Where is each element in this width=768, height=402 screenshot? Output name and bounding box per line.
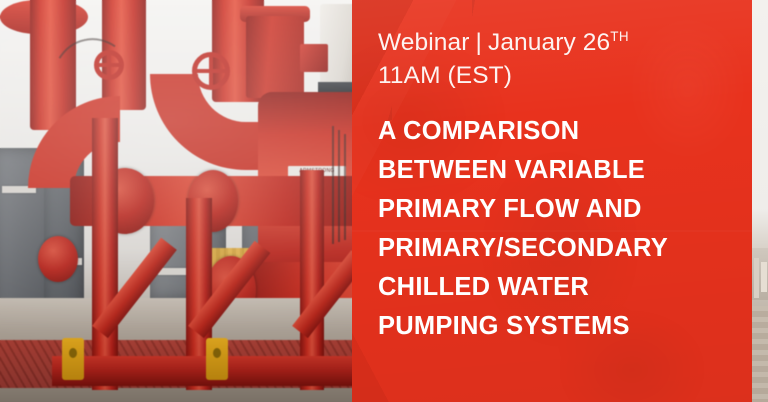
headline-line-1: A COMPARISON [378, 112, 732, 151]
strip-shape [754, 258, 759, 298]
event-type-label: Webinar [378, 29, 470, 56]
wire [338, 130, 340, 242]
lifting-lug [62, 338, 84, 380]
lifting-lug [206, 338, 228, 380]
valve-actuator [246, 16, 304, 98]
headline: A COMPARISON BETWEEN VARIABLE PRIMARY FL… [378, 112, 732, 346]
strip-shape [761, 262, 767, 292]
headline-line-2: BETWEEN VARIABLE [378, 151, 732, 190]
right-photo-strip [752, 0, 768, 402]
overlay-content: Webinar|January 26TH 11AM (EST) A COMPAR… [378, 20, 732, 346]
headline-line-3: PRIMARY FLOW AND [378, 190, 732, 229]
headline-line-4: PRIMARY/SECONDARY [378, 229, 732, 268]
pipe-flange [38, 236, 78, 282]
kicker-separator: | [470, 29, 488, 56]
event-kicker: Webinar|January 26TH [378, 20, 732, 59]
wire [332, 126, 334, 244]
date-ordinal-suffix: TH [610, 29, 629, 44]
webinar-banner: ARMSTRONG [0, 0, 768, 402]
headline-line-6: PUMPING SYSTEMS [378, 307, 732, 346]
event-time: 11AM (EST) [378, 59, 732, 92]
red-text-panel: Webinar|January 26TH 11AM (EST) A COMPAR… [352, 0, 752, 402]
event-date-label: January 26 [488, 29, 610, 56]
strip-shape [752, 306, 768, 402]
headline-line-5: CHILLED WATER [378, 268, 732, 307]
handwheel-icon [192, 52, 230, 90]
skid-leg [92, 118, 118, 390]
actuator-junction-box [300, 44, 328, 72]
wire [344, 134, 346, 240]
